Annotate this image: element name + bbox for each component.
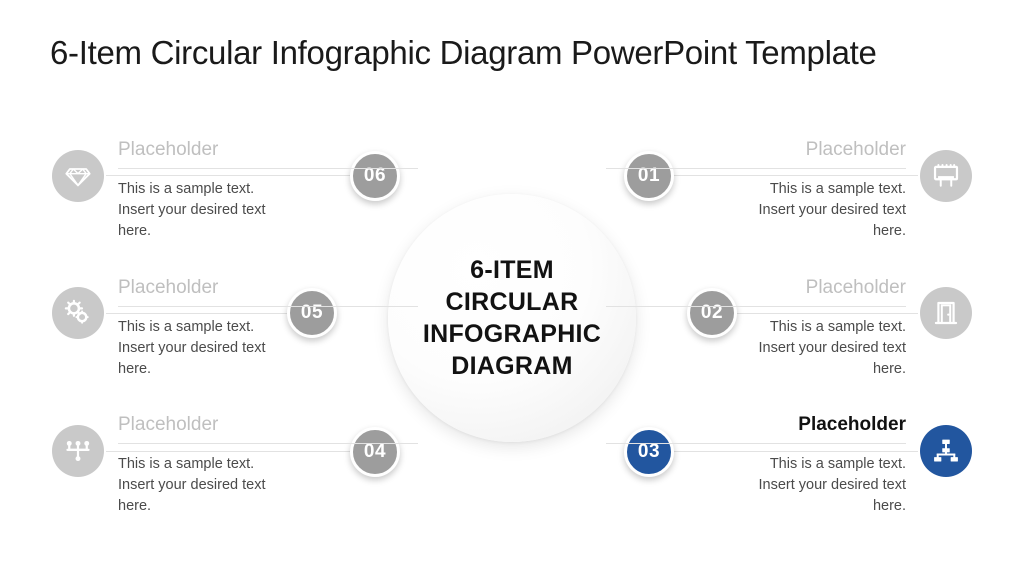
item-body-05: This is a sample text. Insert your desir… <box>118 307 418 380</box>
item-icon-02[interactable] <box>920 287 972 339</box>
arc-segment-02[interactable] <box>355 0 397 64</box>
gears-icon <box>64 299 92 327</box>
org-chart-icon <box>932 437 960 465</box>
item-heading-04: Placeholder <box>118 415 418 443</box>
item-icon-06[interactable] <box>52 150 104 202</box>
item-icon-01[interactable] <box>920 150 972 202</box>
item-heading-02: Placeholder <box>606 278 906 306</box>
circular-infographic-diagram: 6-ITEM CIRCULAR INFOGRAPHIC DIAGRAM 01 0… <box>0 0 1024 576</box>
item-icon-04[interactable] <box>52 425 104 477</box>
item-body-02: This is a sample text. Insert your desir… <box>606 307 906 380</box>
item-body-06: This is a sample text. Insert your desir… <box>118 169 418 242</box>
item-heading-06: Placeholder <box>118 140 418 168</box>
item-icon-05[interactable] <box>52 287 104 339</box>
item-block-02: Placeholder This is a sample text. Inser… <box>606 278 906 380</box>
item-block-05: Placeholder This is a sample text. Inser… <box>118 278 418 380</box>
arc-segment-05[interactable] <box>28 0 70 64</box>
item-block-06: Placeholder This is a sample text. Inser… <box>118 140 418 242</box>
item-block-01: Placeholder This is a sample text. Inser… <box>606 140 906 242</box>
item-body-04: This is a sample text. Insert your desir… <box>118 444 418 517</box>
item-block-04: Placeholder This is a sample text. Inser… <box>118 415 418 517</box>
item-body-01: This is a sample text. Insert your desir… <box>606 169 906 242</box>
item-icon-03[interactable] <box>920 425 972 477</box>
item-heading-01: Placeholder <box>606 140 906 168</box>
center-label: 6-ITEM CIRCULAR INFOGRAPHIC DIAGRAM <box>423 254 601 382</box>
item-heading-03: Placeholder <box>606 415 906 443</box>
item-heading-05: Placeholder <box>118 278 418 306</box>
item-body-03: This is a sample text. Insert your desir… <box>606 444 906 517</box>
diamond-icon <box>64 162 92 190</box>
center-hub: 6-ITEM CIRCULAR INFOGRAPHIC DIAGRAM <box>388 194 636 442</box>
hierarchy-icon <box>64 437 92 465</box>
billboard-icon <box>932 162 960 190</box>
item-block-03: Placeholder This is a sample text. Inser… <box>606 415 906 517</box>
door-icon <box>932 299 960 327</box>
